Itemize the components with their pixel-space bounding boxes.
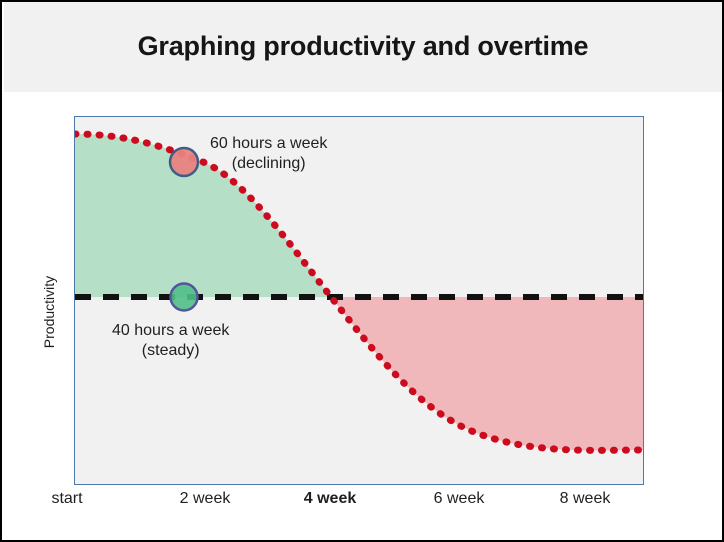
- plot-frame: [74, 116, 644, 485]
- plot-svg: [75, 117, 645, 486]
- annotation-40-hours-line2: (steady): [112, 341, 229, 361]
- marker-60-hours[interactable]: [170, 148, 198, 176]
- annotation-60-hours-line2: (declining): [210, 154, 327, 174]
- x-axis: start 2 week 4 week 6 week 8 week: [2, 490, 722, 536]
- slide-header: Graphing productivity and overtime: [4, 2, 722, 92]
- y-axis-label: Productivity: [41, 252, 57, 372]
- annotation-40-hours: 40 hours a week (steady): [112, 321, 229, 361]
- x-tick-2-week: 2 week: [150, 490, 260, 508]
- x-tick-8-week: 8 week: [530, 490, 640, 508]
- annotation-60-hours: 60 hours a week (declining): [210, 134, 327, 174]
- x-tick-start: start: [12, 490, 122, 508]
- annotation-60-hours-line1: 60 hours a week: [210, 134, 327, 154]
- chart-area: Productivity 60 hours a week (declining): [2, 92, 722, 542]
- x-tick-6-week: 6 week: [404, 490, 514, 508]
- slide-canvas: Graphing productivity and overtime Produ…: [0, 0, 724, 542]
- marker-40-hours[interactable]: [171, 284, 198, 311]
- annotation-40-hours-line1: 40 hours a week: [112, 321, 229, 341]
- loss-region-fill: [331, 297, 643, 450]
- x-tick-4-week: 4 week: [275, 490, 385, 508]
- page-title: Graphing productivity and overtime: [138, 32, 589, 62]
